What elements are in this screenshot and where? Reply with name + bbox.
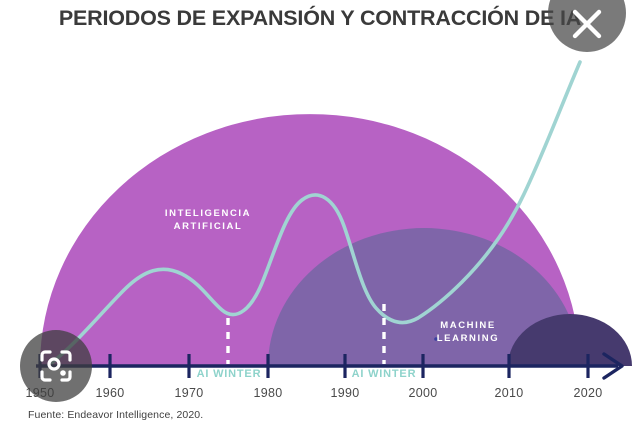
- page-title: PERIODOS DE EXPANSIÓN Y CONTRACCIÓN DE I…: [0, 4, 640, 32]
- chart-dot-marker: [434, 337, 438, 341]
- axis-tick-label-1990: 1990: [315, 386, 375, 400]
- ai-winter-label-2: AI WINTER: [324, 368, 444, 380]
- screenshot-root: PERIODOS DE EXPANSIÓN Y CONTRACCIÓN DE I…: [0, 0, 640, 428]
- close-icon: [570, 7, 604, 41]
- axis-tick-label-2000: 2000: [393, 386, 453, 400]
- google-lens-button[interactable]: [20, 330, 92, 402]
- ai-winter-label-1: AI WINTER: [169, 368, 289, 380]
- axis-tick-label-2020: 2020: [558, 386, 618, 400]
- google-lens-icon: [38, 348, 74, 384]
- axis-tick-label-1980: 1980: [238, 386, 298, 400]
- ai-timeline-chart: INTELIGENCIA ARTIFICIAL MACHINE LEARNING…: [0, 42, 640, 382]
- axis-tick-label-2010: 2010: [479, 386, 539, 400]
- chart-svg: [0, 42, 640, 382]
- axis-tick-label-1960: 1960: [80, 386, 140, 400]
- source-caption: Fuente: Endeavor Intelligence, 2020.: [28, 409, 203, 421]
- axis-tick-label-1970: 1970: [159, 386, 219, 400]
